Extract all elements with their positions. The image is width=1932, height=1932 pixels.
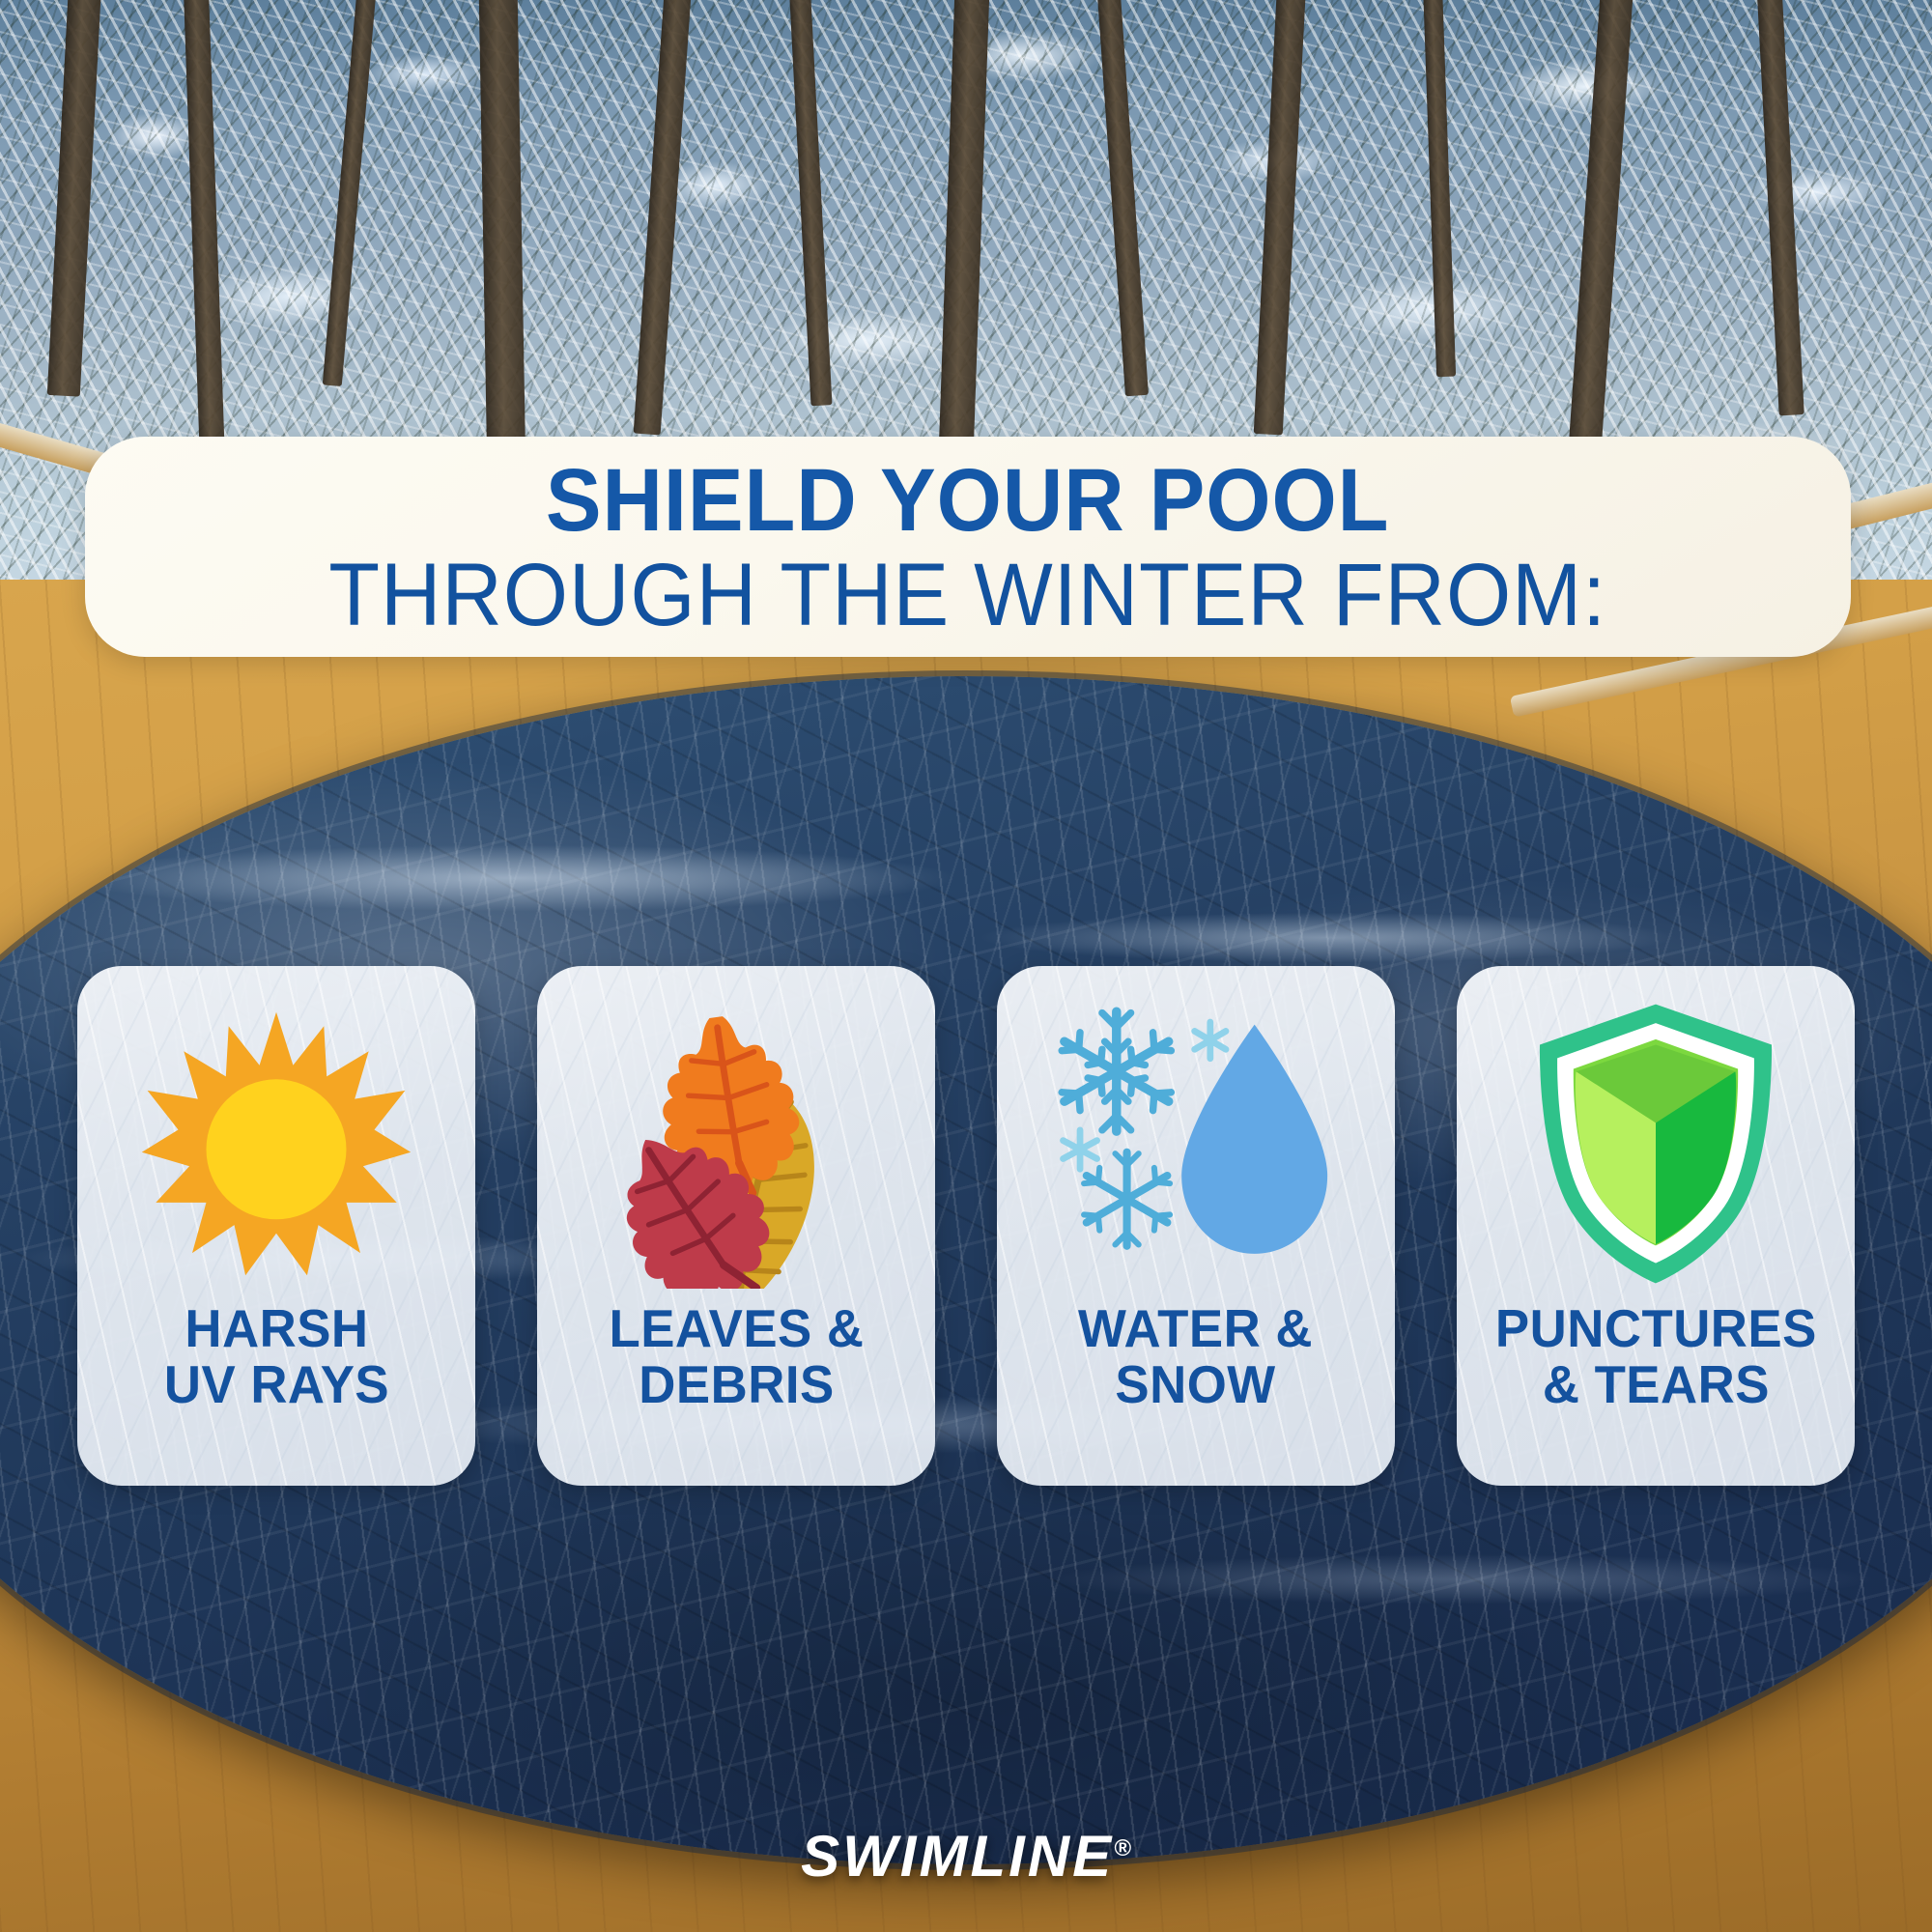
sun-icon [136, 999, 416, 1289]
shield-icon [1520, 999, 1791, 1289]
snowflake-small-top [1064, 1130, 1097, 1169]
feature-label-punctures-tears: PUNCTURES & TEARS [1495, 1300, 1817, 1413]
brand-name: SWIMLINE [801, 1824, 1114, 1889]
snowflake-large [1062, 1011, 1171, 1131]
snowflake-medium [1084, 1152, 1170, 1246]
snowflake-small-right [1195, 1022, 1226, 1059]
feature-label-line-1: LEAVES & [609, 1298, 864, 1358]
feature-label-line-2: DEBRIS [639, 1354, 834, 1414]
feature-label-harsh-uv-rays: HARSH UV RAYS [163, 1300, 388, 1413]
feature-card-list: HARSH UV RAYS [77, 966, 1855, 1488]
registered-trademark-icon: ® [1114, 1835, 1131, 1861]
feature-card-punctures-tears[interactable]: PUNCTURES & TEARS [1457, 966, 1855, 1486]
feature-label-line-1: HARSH [185, 1298, 368, 1358]
feature-label-water-snow: WATER & SNOW [1079, 1300, 1314, 1413]
feature-label-line-2: SNOW [1116, 1354, 1276, 1414]
feature-label-line-1: PUNCTURES [1495, 1298, 1817, 1358]
headline-line-2: THROUGH THE WINTER FROM: [329, 549, 1607, 643]
feature-card-harsh-uv-rays[interactable]: HARSH UV RAYS [77, 966, 475, 1486]
leaves-icon [591, 999, 881, 1289]
water-droplet [1181, 1025, 1327, 1254]
feature-card-leaves-debris[interactable]: LEAVES & DEBRIS [537, 966, 935, 1486]
feature-label-line-2: UV RAYS [163, 1354, 388, 1414]
feature-label-line-2: & TEARS [1542, 1354, 1769, 1414]
headline-banner: SHIELD YOUR POOL THROUGH THE WINTER FROM… [85, 437, 1851, 657]
headline-line-1: SHIELD YOUR POOL [546, 456, 1390, 545]
promo-image: SHIELD YOUR POOL THROUGH THE WINTER FROM… [0, 0, 1932, 1932]
feature-card-water-snow[interactable]: WATER & SNOW [997, 966, 1395, 1486]
brand-logo: SWIMLINE® [0, 1823, 1932, 1889]
feature-label-line-1: WATER & [1079, 1298, 1314, 1358]
feature-label-leaves-debris: LEAVES & DEBRIS [609, 1300, 864, 1413]
snow-water-icon [1046, 999, 1346, 1289]
